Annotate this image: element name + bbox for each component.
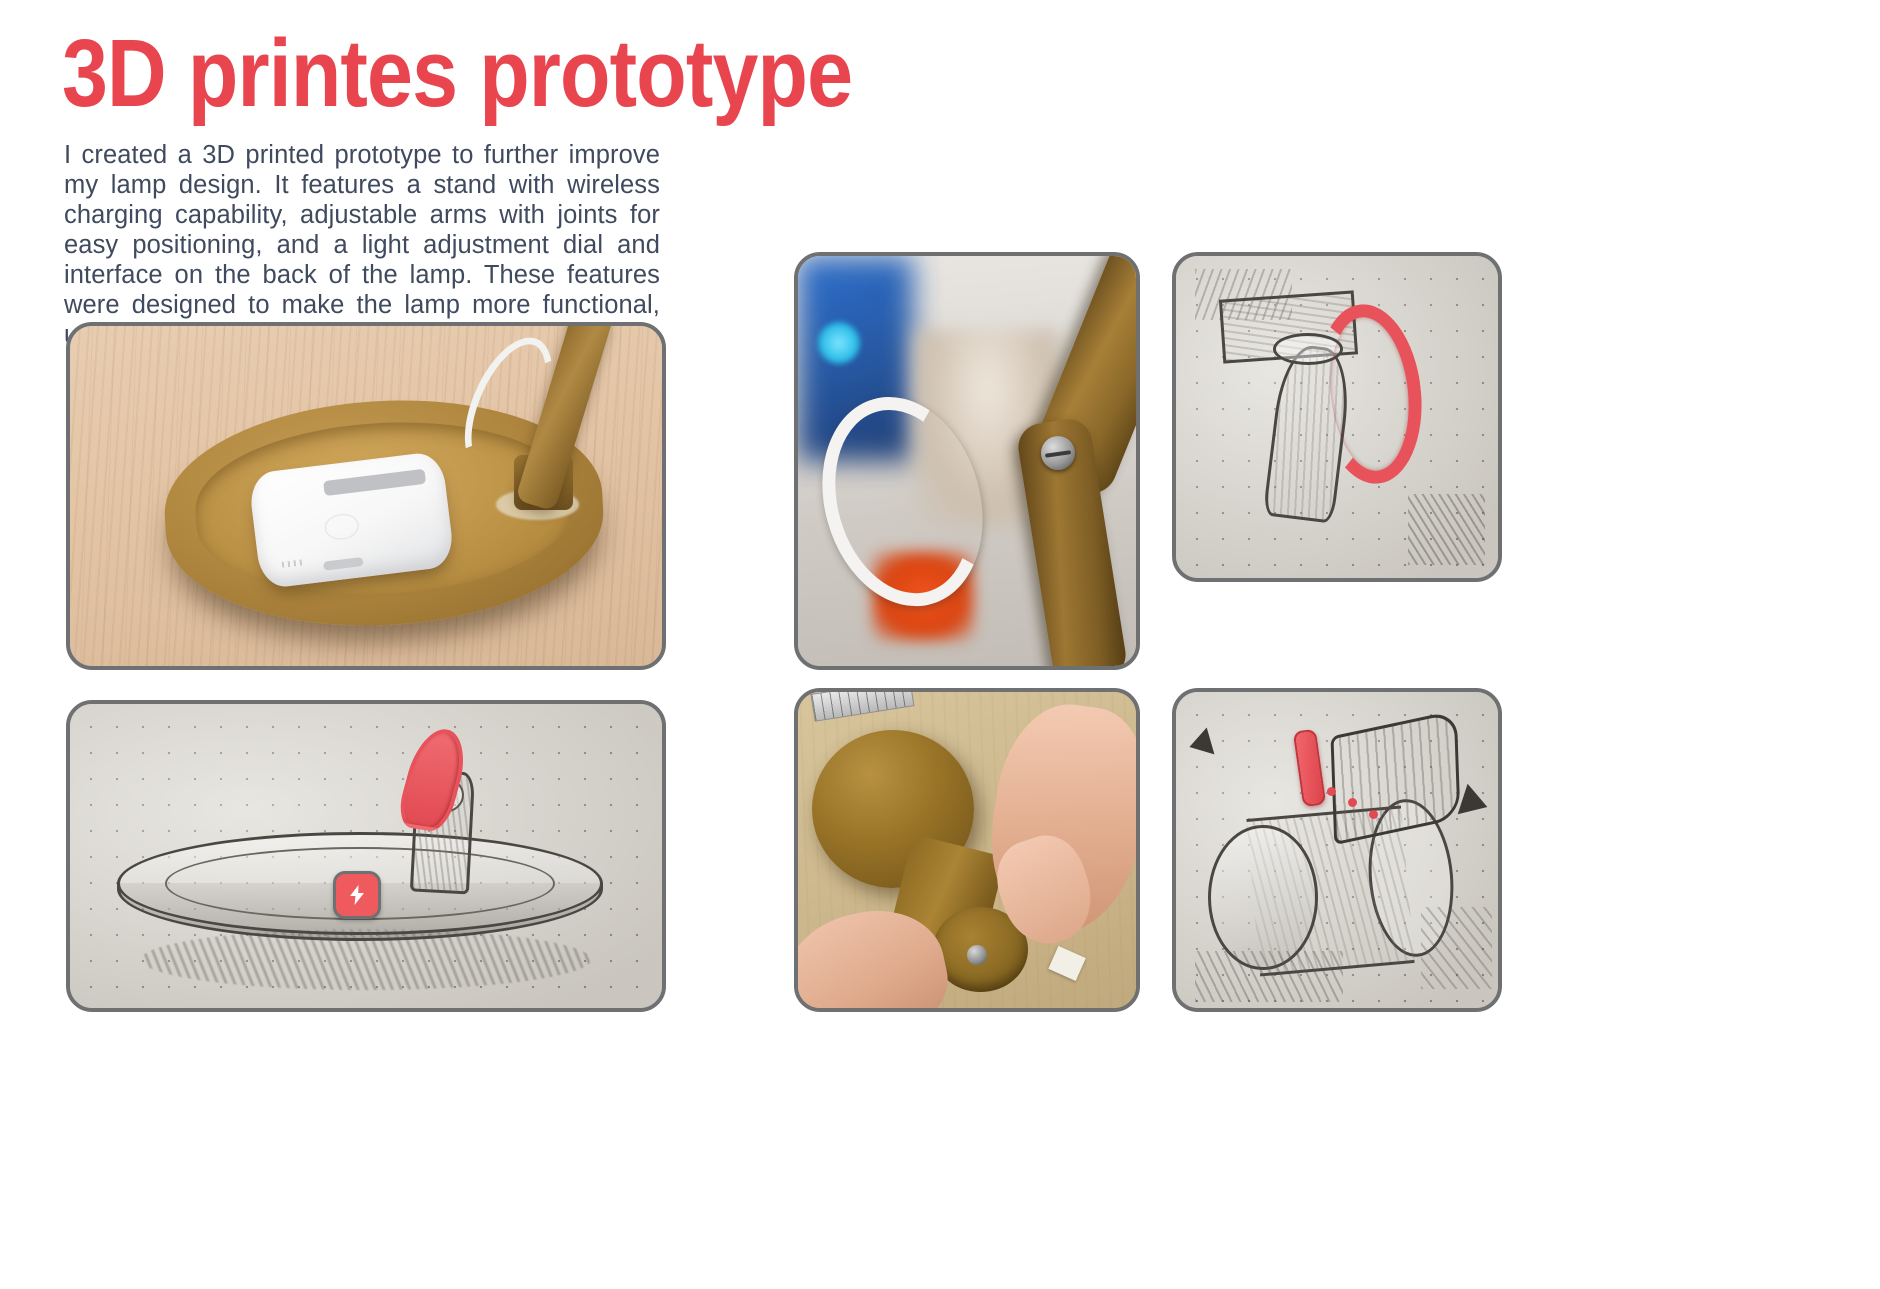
side-hatching	[1421, 907, 1492, 989]
case-pairing-circle	[323, 512, 359, 541]
lightning-bolt-icon	[345, 883, 369, 907]
sketch-light-dial-content	[1176, 692, 1498, 1008]
sketch-arm-joint-content	[1176, 256, 1498, 578]
page-title: 3D printes prototype	[62, 22, 852, 126]
sketch-charging-base-content	[70, 704, 662, 1008]
charging-bolt-badge	[333, 871, 381, 919]
photo-arm-joint-content	[798, 256, 1136, 666]
case-speaker-dots	[282, 560, 304, 568]
sketch-arm-joint[interactable]	[1172, 252, 1502, 582]
portfolio-page: 3D printes prototype I created a 3D prin…	[0, 0, 1880, 1289]
indicator-dots	[1327, 787, 1391, 831]
ground-hatching	[1195, 951, 1343, 1002]
indicator-dot	[1348, 798, 1357, 807]
photo-charging-base[interactable]	[66, 322, 666, 670]
cap-screw	[967, 945, 987, 965]
sketch-light-dial[interactable]	[1172, 688, 1502, 1012]
earbuds-case	[247, 451, 455, 590]
case-usb-port	[323, 557, 363, 571]
case-hinge	[323, 469, 426, 496]
photo-lamp-head-content	[798, 692, 1136, 1008]
photo-charging-base-content	[70, 326, 662, 666]
cylinder-front-face	[1208, 825, 1317, 970]
lower-hatching	[1408, 494, 1485, 565]
indicator-dot	[1327, 787, 1336, 796]
sketch-charging-base[interactable]	[66, 700, 666, 1012]
blue-bokeh-light	[818, 322, 860, 364]
photo-arm-joint[interactable]	[794, 252, 1140, 670]
photo-lamp-head-assembly[interactable]	[794, 688, 1140, 1012]
indicator-dot	[1369, 810, 1378, 819]
